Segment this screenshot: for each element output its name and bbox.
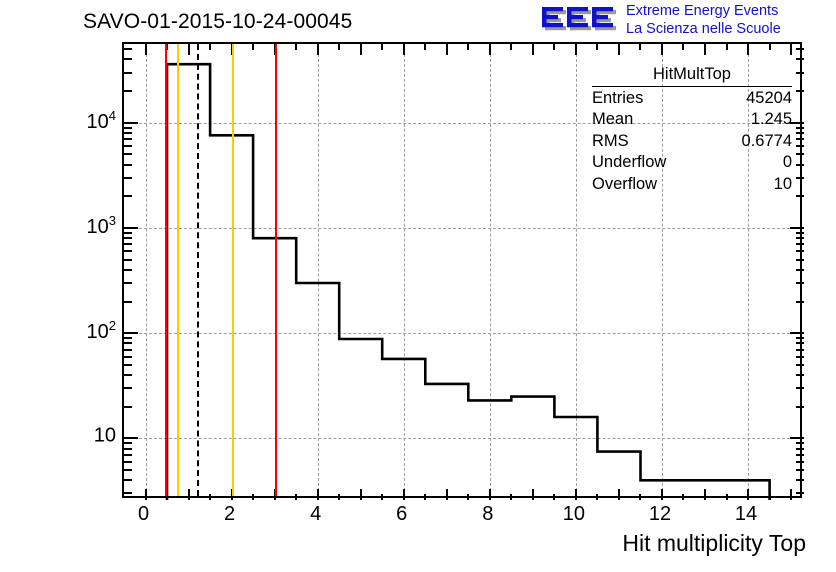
x-tick-label: 0 [138,503,149,526]
y-tick-label-mantissa: 10 [87,216,109,238]
stats-row-key: Mean [592,109,633,130]
y-tick-label: 102 [87,318,116,344]
stats-row-value: 10 [774,174,792,195]
eee-logo-text: Extreme Energy Events La Scienza nelle S… [626,3,781,38]
stats-row-value: 45204 [746,88,792,109]
y-tick-label-mantissa: 10 [87,321,109,343]
y-tick-label-mantissa: 10 [87,111,109,133]
stats-row-key: Overflow [592,174,657,195]
x-axis-title: Hit multiplicity Top [622,530,806,557]
eee-logo: Extreme Energy Events La Scienza nelle S… [540,2,830,42]
y-tick-label: 103 [87,213,116,239]
marker-line-1 [165,44,167,496]
page-title: SAVO-01-2015-10-24-00045 [83,10,352,34]
x-tick-label: 4 [310,503,321,526]
y-tick-label-exponent: 4 [109,108,116,123]
histogram-canvas: SAVO-01-2015-10-24-00045 [0,0,836,572]
x-tick-label: 2 [224,503,235,526]
y-tick-label-exponent: 3 [109,213,116,228]
eee-logo-line1: Extreme Energy Events [626,3,781,21]
eee-logo-line2: La Scienza nelle Scuole [626,21,781,39]
stats-row-value: 0.6774 [742,131,792,152]
stats-row: Underflow0 [592,151,792,173]
stats-row: Overflow10 [592,173,792,195]
y-tick-label: 10 [94,425,116,448]
stats-row-value: 0 [783,152,792,173]
stats-row-value: 1.245 [751,109,792,130]
y-tick-label-exponent: 2 [109,318,116,333]
marker-line-4 [232,44,234,496]
stats-row: Entries45204 [592,87,792,109]
stats-row: Mean1.245 [592,108,792,130]
stats-row-key: RMS [592,131,629,152]
x-tick-label: 14 [735,503,757,526]
marker-line-3 [197,44,199,496]
marker-line-5 [275,44,277,496]
stats-row: RMS0.6774 [592,130,792,152]
eee-logo-mark [540,4,618,38]
stats-row-key: Entries [592,88,643,109]
stats-box: HitMultTop Entries45204Mean1.245RMS0.677… [592,64,792,194]
y-tick-label: 104 [87,108,116,134]
stats-box-rows: Entries45204Mean1.245RMS0.6774Underflow0… [592,87,792,195]
stats-box-title: HitMultTop [592,64,792,87]
marker-line-2 [177,44,179,496]
x-tick-label: 12 [649,503,671,526]
x-tick-label: 6 [396,503,407,526]
x-tick-label: 10 [563,503,585,526]
x-tick-label: 8 [482,503,493,526]
stats-row-key: Underflow [592,152,666,173]
